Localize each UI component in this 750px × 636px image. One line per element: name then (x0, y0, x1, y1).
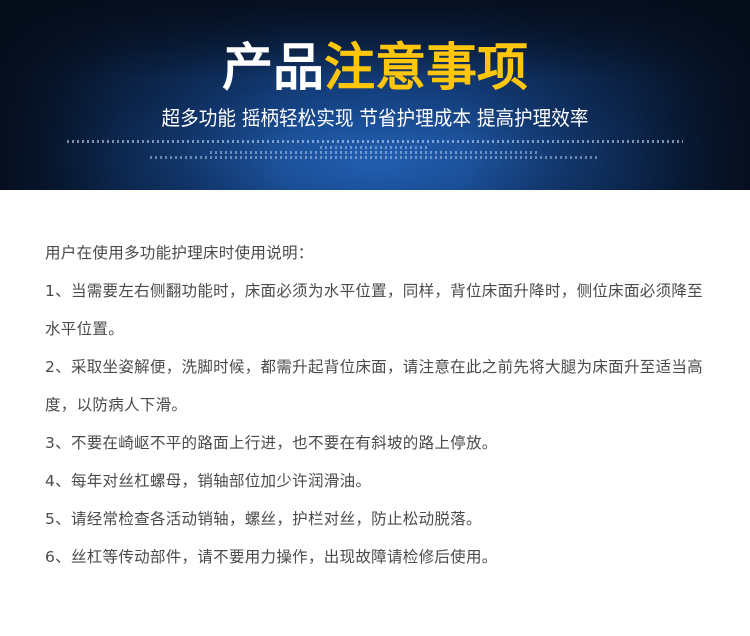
decorative-line-4 (150, 156, 600, 159)
banner-subtitle: 超多功能 摇柄轻松实现 节省护理成本 提高护理效率 (26, 97, 724, 131)
instruction-item-4: 4、每年对丝杠螺母，销轴部位加少许润滑油。 (45, 462, 704, 500)
decorative-line-3 (210, 151, 540, 154)
instruction-item-1: 1、当需要左右侧翻功能时，床面必须为水平位置，同样，背位床面升降时，侧位床面必须… (45, 272, 704, 348)
instruction-item-6: 6、丝杠等传动部件，请不要用力操作，出现故障请检修后使用。 (45, 538, 704, 576)
instructions-section: 用户在使用多功能护理床时使用说明： 1、当需要左右侧翻功能时，床面必须为水平位置… (0, 190, 750, 576)
instruction-item-2: 2、采取坐姿解便，洗脚时候，都需升起背位床面，请注意在此之前先将大腿为床面升至适… (45, 348, 704, 424)
instructions-intro: 用户在使用多功能护理床时使用说明： (45, 234, 704, 272)
instruction-item-3: 3、不要在崎岖不平的路面上行进，也不要在有斜坡的路上停放。 (45, 424, 704, 462)
banner-title: 产品注意事项 (0, 0, 750, 97)
banner-title-part-white: 产品 (222, 39, 324, 98)
decorative-microtype-divider (67, 140, 683, 162)
banner-title-part-gold: 注意事项 (324, 39, 528, 98)
product-notice-banner: 产品注意事项 超多功能 摇柄轻松实现 节省护理成本 提高护理效率 (0, 0, 750, 190)
instructions-text-block: 用户在使用多功能护理床时使用说明： 1、当需要左右侧翻功能时，床面必须为水平位置… (0, 190, 750, 576)
decorative-line-1 (67, 140, 683, 143)
banner-content: 产品注意事项 超多功能 摇柄轻松实现 节省护理成本 提高护理效率 (0, 0, 750, 190)
instruction-item-5: 5、请经常检查各活动销轴，螺丝，护栏对丝，防止松动脱落。 (45, 500, 704, 538)
decorative-line-2 (320, 146, 430, 149)
